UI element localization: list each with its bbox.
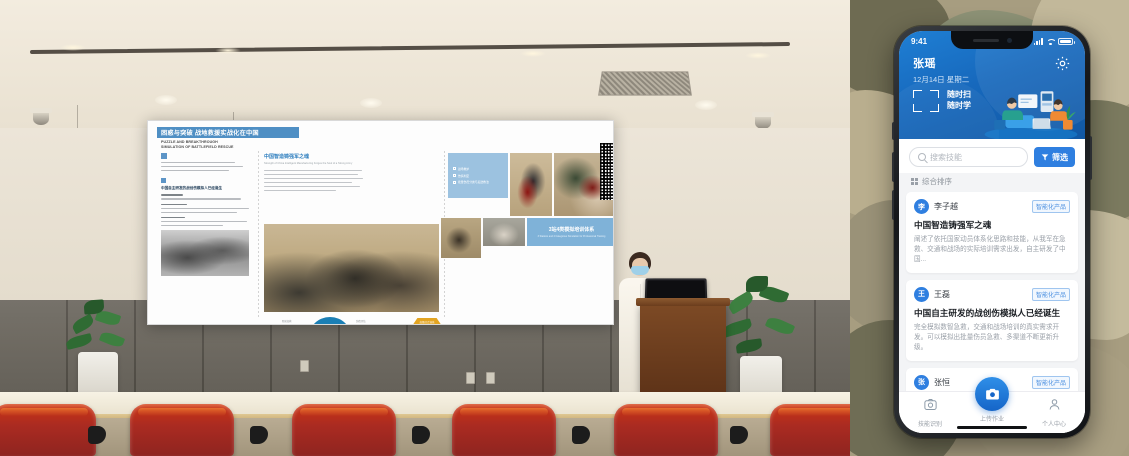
user-greeting-row: 张瑶 12月14日 星期二 bbox=[899, 51, 1085, 85]
audience-seating bbox=[0, 404, 850, 456]
pyramid-diagram: 高级综合演练 专项技能训练 基础理论与基本操作训练 bbox=[394, 318, 460, 325]
donut-label: 院前急救 bbox=[282, 319, 292, 323]
chair-armrest bbox=[250, 426, 268, 444]
downlight bbox=[155, 95, 177, 105]
auditorium-chair bbox=[614, 404, 718, 456]
user-name: 张瑶 bbox=[913, 55, 969, 71]
chair-armrest bbox=[730, 426, 748, 444]
sort-row[interactable]: 综合排序 bbox=[899, 173, 1085, 192]
ceiling-glow bbox=[60, 44, 86, 51]
filter-label: 筛选 bbox=[1052, 152, 1068, 163]
phone-screen: 9:41 张瑶 12月14日 星期二 bbox=[899, 31, 1085, 433]
avatar: 王 bbox=[914, 287, 929, 302]
search-icon bbox=[918, 153, 926, 161]
qr-caption: 扫码关注 获取更多内容 bbox=[600, 203, 614, 207]
sort-label: 综合排序 bbox=[922, 176, 952, 187]
author-name: 李子越 bbox=[934, 201, 958, 212]
section-marker bbox=[161, 178, 166, 183]
qr-code[interactable] bbox=[600, 143, 614, 200]
author-name: 王磊 bbox=[934, 289, 950, 300]
avatar: 李 bbox=[914, 199, 929, 214]
left-section-heading: 中国自主研发的战创伤模拟人已经诞生 bbox=[161, 186, 253, 191]
card-description: 完全模拟数智急救，交通和战场培训的真实需求开发。可以模拟出批量伤员急救、多渠道不… bbox=[914, 323, 1070, 353]
author-row: 李 李子越 bbox=[914, 199, 958, 214]
list-item[interactable]: 王 王磊 智能化产品 中国自主研发的战创伤模拟人已经诞生 完全模拟数智急救，交通… bbox=[906, 280, 1078, 361]
chair-armrest bbox=[412, 426, 430, 444]
app-header: 9:41 张瑶 12月14日 星期二 bbox=[899, 31, 1085, 139]
banner-title-cn: 3站4类模拟培训体系 bbox=[549, 226, 595, 233]
ceiling-vent bbox=[598, 71, 692, 95]
tile-bullet-label: 战场救护 bbox=[458, 167, 469, 171]
tile-bullet-label: 伤情判定 bbox=[458, 174, 469, 178]
rescue-photo-3 bbox=[441, 218, 481, 258]
tab-label: 上传作业 bbox=[966, 414, 1018, 423]
avatar: 张 bbox=[914, 375, 929, 390]
section-marker bbox=[161, 153, 167, 159]
card-title: 中国智造铸强军之魂 bbox=[914, 220, 1070, 231]
battery-icon bbox=[1058, 38, 1073, 45]
status-badge: 智能化产品 bbox=[1032, 376, 1070, 389]
filter-button[interactable]: 筛选 bbox=[1034, 147, 1075, 167]
donut-chart: 战创 伤模拟人教学 bbox=[308, 317, 352, 325]
auditorium-chair bbox=[292, 404, 396, 456]
led-video-wall: 困惑与突破 战地救援实战化在中国 PUZZLE AND BREAKTHROUGH… bbox=[147, 120, 614, 325]
tab-profile[interactable]: 个人中心 bbox=[1028, 397, 1080, 428]
chair-armrest bbox=[88, 426, 106, 444]
home-indicator bbox=[957, 426, 1027, 429]
middle-heading-en: Strength of China Intelligent Manufactur… bbox=[264, 162, 364, 166]
slide-middle-column: 中国智造铸强军之魂 Strength of China Intelligent … bbox=[264, 153, 364, 194]
middle-body-lines bbox=[264, 170, 364, 191]
slide-title-en: PUZZLE AND BREAKTHROUGH SIMULATION OF BA… bbox=[161, 140, 234, 150]
tab-skill-recognition[interactable]: 技能识别 bbox=[904, 397, 956, 428]
author-row: 张 张恒 bbox=[914, 375, 950, 390]
historic-photo bbox=[161, 230, 249, 276]
screenshot-stage: 困惑与突破 战地救援实战化在中国 PUZZLE AND BREAKTHROUGH… bbox=[0, 0, 1129, 456]
training-banner: 3站4类模拟培训体系 3 Stations and 4 Categories S… bbox=[527, 218, 614, 246]
podium bbox=[640, 303, 726, 395]
wifi-icon bbox=[1046, 38, 1055, 45]
chair-armrest bbox=[572, 426, 590, 444]
auditorium-chair bbox=[770, 404, 850, 456]
search-input-wrapper[interactable] bbox=[909, 147, 1028, 167]
grid-icon bbox=[911, 178, 918, 185]
gear-icon[interactable] bbox=[1054, 55, 1071, 72]
auditorium-chair bbox=[130, 404, 234, 456]
smartphone-mockup: 9:41 张瑶 12月14日 星期二 bbox=[894, 26, 1090, 438]
banner-title-en: 3 Stations and 4 Categories Simulation f… bbox=[538, 235, 606, 238]
wall-socket bbox=[466, 372, 475, 384]
list-item[interactable]: 李 李子越 智能化产品 中国智造铸强军之魂 阐述了依托国家动员体系化思路和技能，… bbox=[906, 192, 1078, 273]
status-badge: 智能化产品 bbox=[1032, 200, 1070, 213]
conference-room-photo: 困惑与突破 战地救援实战化在中国 PUZZLE AND BREAKTHROUGH… bbox=[0, 0, 850, 456]
rescue-photo-4 bbox=[483, 218, 525, 246]
ceiling bbox=[0, 0, 850, 128]
ceiling-glow bbox=[745, 52, 771, 59]
current-date: 12月14日 星期二 bbox=[913, 74, 969, 85]
search-row: 筛选 bbox=[899, 139, 1085, 173]
ceiling-glow bbox=[215, 47, 241, 54]
sub-lines bbox=[161, 194, 253, 226]
scan-promo[interactable]: 随时扫 随时学 bbox=[899, 85, 1085, 112]
wall-socket bbox=[300, 360, 309, 372]
ceiling-camera bbox=[752, 112, 774, 128]
slide-title-cn: 困惑与突破 战地救援实战化在中国 bbox=[161, 128, 259, 137]
card-title: 中国自主研发的战创伤模拟人已经诞生 bbox=[914, 308, 1070, 319]
middle-heading-cn: 中国智造铸强军之魂 bbox=[264, 153, 364, 160]
tab-label: 个人中心 bbox=[1028, 419, 1080, 428]
cellular-bars-icon bbox=[1034, 38, 1043, 45]
field-training-photo bbox=[264, 224, 439, 312]
tab-label: 技能识别 bbox=[904, 419, 956, 428]
downlight bbox=[360, 98, 382, 108]
auditorium-chair bbox=[452, 404, 556, 456]
wall-socket bbox=[486, 372, 495, 384]
bullet-tile: 战场救护 伤情判定 批量伤员分类与后送救治 bbox=[448, 153, 508, 198]
search-input[interactable] bbox=[930, 153, 1019, 162]
column-divider bbox=[258, 151, 259, 319]
auditorium-chair bbox=[0, 404, 96, 456]
downlight bbox=[695, 100, 717, 110]
rescue-photo-1 bbox=[510, 153, 552, 216]
ceiling-camera bbox=[30, 108, 52, 124]
camera-icon bbox=[984, 386, 1001, 403]
status-badge: 智能化产品 bbox=[1032, 288, 1070, 301]
slide-title-banner: 困惑与突破 战地救援实战化在中国 bbox=[157, 127, 299, 138]
camera-fab-button[interactable] bbox=[975, 377, 1009, 411]
author-row: 王 王磊 bbox=[914, 287, 950, 302]
status-time: 9:41 bbox=[911, 37, 927, 46]
bullet-lines bbox=[161, 162, 253, 171]
donut-label: 伤情评估 bbox=[356, 319, 366, 323]
promo-text: 随时扫 随时学 bbox=[947, 90, 971, 112]
person-icon bbox=[1047, 397, 1062, 412]
face-mask bbox=[631, 266, 649, 275]
status-bar: 9:41 bbox=[899, 31, 1085, 51]
ceiling-glow bbox=[520, 50, 546, 57]
slide-left-column: 中国自主研发的战创伤模拟人已经诞生 bbox=[161, 153, 253, 276]
tile-bullet-label: 批量伤员分类与后送救治 bbox=[458, 180, 489, 184]
card-description: 阐述了依托国家动员体系化思路和技能，从我军在急救、交通和战场的实际培训需求出发，… bbox=[914, 235, 1070, 265]
author-name: 张恒 bbox=[934, 377, 950, 388]
filter-icon bbox=[1041, 153, 1049, 161]
pyramid-level: 高级综合演练 bbox=[412, 318, 442, 325]
camera-skill-icon bbox=[923, 397, 938, 412]
scan-frame-icon bbox=[913, 90, 939, 112]
